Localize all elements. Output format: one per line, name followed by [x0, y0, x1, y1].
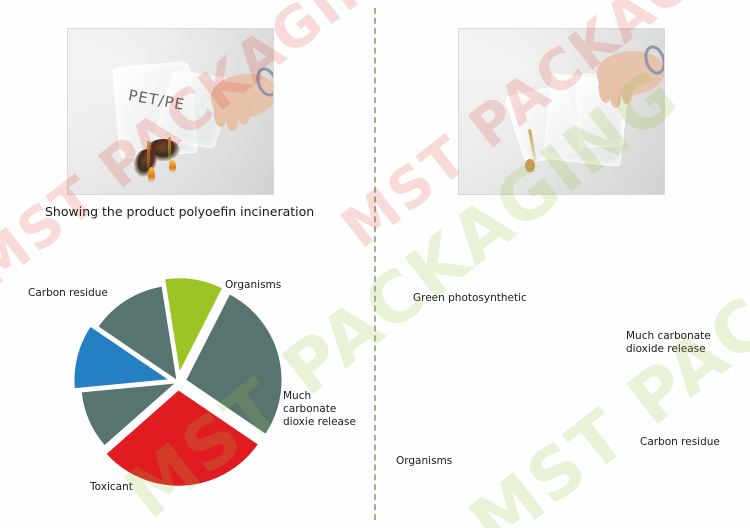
pie-slices-left — [73, 277, 283, 487]
panel-left: PET/PE Showing the product polyoefin inc… — [0, 0, 375, 528]
pie-label-carbon-residue: Carbon residue — [640, 436, 720, 449]
finger — [609, 85, 621, 109]
caption-left: Showing the product polyoefin incinerati… — [45, 203, 365, 220]
pie-label-organisms: Organisms — [396, 455, 452, 468]
bio-based-bag-incineration-photo — [458, 28, 665, 195]
molten-drip — [168, 137, 171, 163]
pie-label-organisms: Organisms — [225, 279, 281, 292]
residue-blob — [525, 159, 535, 172]
polyolefin-bag-incineration-photo: PET/PE — [67, 28, 274, 195]
pie-label-carbonate-dioxide: Much carbonate dioxie release — [283, 390, 365, 429]
page-root: MST PACKAGING MST PACKAGING MST PACKAGIN… — [0, 0, 750, 528]
pie-label-green-photosynthetic: Green photosynthetic — [413, 292, 527, 305]
flame-icon — [169, 160, 176, 173]
finger — [226, 106, 239, 131]
panel-divider — [374, 8, 376, 520]
pie-label-toxicant: Toxicant — [90, 481, 133, 494]
pie-label-carbon-residue: Carbon residue — [28, 287, 108, 300]
pie-label-carbonate-dioxide: Much carbonate dioxide release — [626, 330, 718, 356]
flame-icon — [148, 167, 155, 183]
